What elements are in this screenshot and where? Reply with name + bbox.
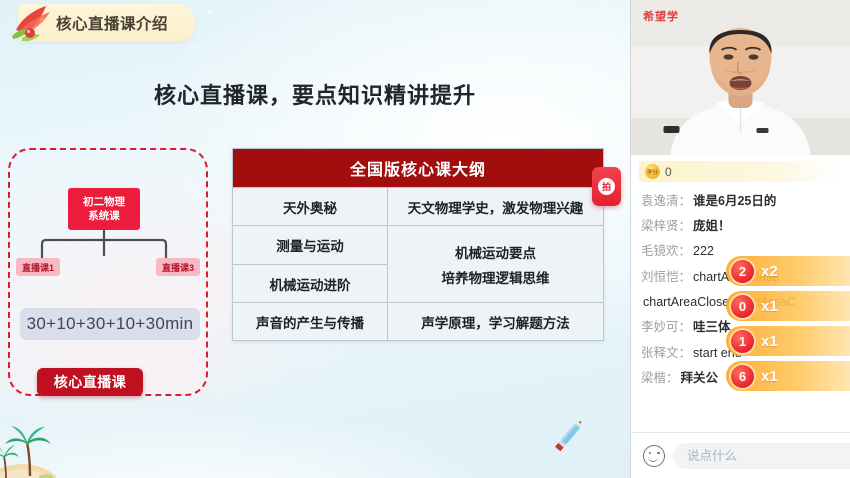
table-cell-topic: 机械运动进阶	[233, 264, 387, 302]
diagram-duration-pill: 30+10+30+10+30min	[20, 308, 200, 340]
emoji-icon[interactable]	[643, 445, 665, 467]
slide-main-heading: 核心直播课，要点知识精讲提升	[0, 78, 630, 110]
leaf-decoration-icon	[8, 0, 64, 46]
chat-message: 刘恒恺： chartAreaClose	[631, 264, 850, 289]
chat-message-text: chartAreaClose	[693, 270, 779, 284]
coin-count: 0	[665, 165, 672, 179]
chat-message: 毛镜欢： 222	[631, 239, 850, 264]
core-live-course-button: 核心直播课	[37, 368, 143, 396]
chat-message-text: 谁是6月25日的	[693, 194, 776, 208]
outline-table-header: 全国版核心课大纲	[233, 149, 603, 187]
diagram-connector-lines	[34, 230, 174, 260]
diagram-root-line1: 初二物理	[83, 195, 125, 209]
chat-message: 张释文： start end	[631, 340, 850, 365]
chat-message-list[interactable]: 学分 0 袁逸清： 谁是6月25日的 梁梓贤： 庞姐！ 毛镜欢： 222 刘恒恺…	[631, 155, 850, 432]
course-structure-diagram: 初二物理 系统课 直播课1 直播课3 30+10+30+10+30min 核心直…	[8, 148, 208, 396]
pencil-decoration-icon	[548, 416, 588, 456]
table-cell-topic: 测量与运动	[233, 226, 387, 264]
coin-reward-row[interactable]: 学分 0	[639, 161, 842, 182]
table-row: 声音的产生与传播 声学原理，学习解题方法	[233, 302, 603, 340]
chat-message-user: 毛镜欢：	[641, 244, 691, 258]
diagram-root-node: 初二物理 系统课	[68, 188, 140, 230]
table-cell-detail: 天文物理学史，激发物理兴趣	[388, 188, 603, 225]
chat-message: 李妙可： 哇三体	[631, 315, 850, 340]
slide-canvas: 核心直播课介绍 核心直播课，要点知识精讲提升 初二物理 系统课 直播课1 直播课…	[0, 0, 630, 478]
chat-input[interactable]	[673, 443, 850, 469]
table-row: 天外奥秘 天文物理学史，激发物理兴趣	[233, 187, 603, 225]
chat-message-text: 庞姐！	[693, 219, 731, 233]
sparkle-decoration	[196, 46, 198, 48]
teacher-video-feed[interactable]: 希望学	[631, 0, 850, 155]
table-merged-topics: 测量与运动 机械运动进阶	[233, 226, 388, 302]
palm-tree-decoration-icon	[0, 406, 104, 478]
table-row-merged: 测量与运动 机械运动进阶 机械运动要点 培养物理逻辑思维	[233, 225, 603, 302]
sparkle-decoration	[208, 10, 211, 13]
chat-message-text: 哇三体	[693, 320, 731, 334]
coin-icon: 学分	[645, 164, 660, 179]
chat-input-bar	[631, 432, 850, 478]
diagram-leaf-left: 直播课1	[16, 258, 60, 276]
live-sidebar: 希望学	[630, 0, 850, 478]
chat-message: chartAreaClose chartAreaC	[631, 290, 850, 315]
slide-title-text: 核心直播课介绍	[56, 12, 168, 34]
live-class-screen: 核心直播课介绍 核心直播课，要点知识精讲提升 初二物理 系统课 直播课1 直播课…	[0, 0, 850, 478]
camera-icon: 拍	[598, 178, 615, 195]
chat-message-text: start end	[693, 346, 742, 360]
sparkle-decoration	[228, 32, 230, 34]
table-cell-detail-line2: 培养物理逻辑思维	[442, 267, 550, 287]
chat-message: 梁楷： 拜关公	[631, 366, 850, 391]
diagram-leaf-right: 直播课3	[156, 258, 200, 276]
chat-message-text: 222	[693, 244, 714, 258]
table-cell-topic: 声音的产生与传播	[233, 303, 388, 340]
chat-message-text: 拜关公	[681, 371, 719, 385]
chat-message: 梁梓贤： 庞姐！	[631, 213, 850, 238]
course-outline-table: 全国版核心课大纲 天外奥秘 天文物理学史，激发物理兴趣 测量与运动 机械运动进阶…	[232, 148, 604, 341]
table-cell-detail: 声学原理，学习解题方法	[388, 303, 603, 340]
chat-message-user: 梁梓贤：	[641, 219, 691, 233]
table-cell-detail-line1: 机械运动要点	[455, 242, 536, 262]
chat-message-text: chartAreaClose chartAreaC	[643, 295, 796, 309]
brand-watermark: 希望学	[643, 8, 679, 24]
chat-message: 袁逸清： 谁是6月25日的	[631, 188, 850, 213]
chat-message-user: 张释文：	[641, 346, 691, 360]
chat-message-user: 梁楷：	[641, 371, 679, 385]
table-merged-detail: 机械运动要点 培养物理逻辑思维	[388, 226, 603, 302]
screenshot-capture-button[interactable]: 拍	[592, 167, 621, 206]
chat-message-user: 李妙可：	[641, 320, 691, 334]
chat-message-user: 袁逸清：	[641, 194, 691, 208]
table-cell-topic: 天外奥秘	[233, 188, 388, 225]
diagram-root-line2: 系统课	[88, 209, 120, 223]
slide-title-banner: 核心直播课介绍	[18, 4, 195, 42]
chat-message-user: 刘恒恺：	[641, 270, 691, 284]
